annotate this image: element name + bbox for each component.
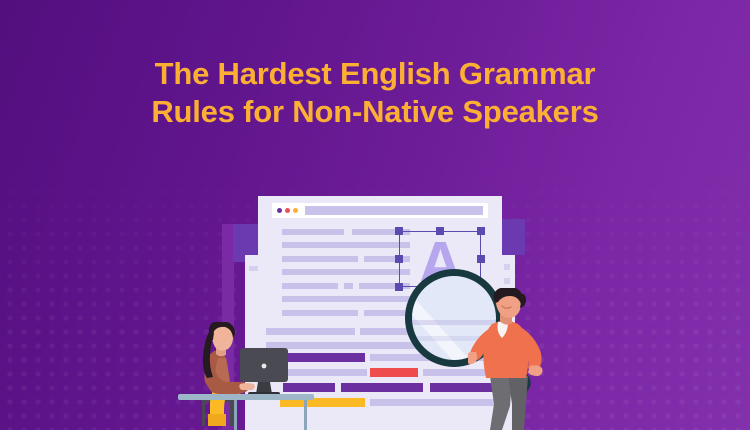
address-bar: [305, 206, 483, 215]
selection-handle-tc[interactable]: [436, 227, 444, 235]
banner-canvas: A: [0, 0, 750, 430]
title-line-1: The Hardest English Grammar: [40, 55, 710, 93]
browser-toolbar: [272, 203, 488, 218]
window-dot-purple-icon: [277, 208, 282, 213]
text-line: [364, 310, 410, 316]
side-tick-right-2: [504, 278, 510, 284]
text-line: [282, 283, 338, 289]
highlight-bar-purple-3: [341, 383, 423, 392]
text-line: [282, 310, 358, 316]
page-title: The Hardest English Grammar Rules for No…: [0, 55, 750, 131]
window-dot-yellow-icon: [293, 208, 298, 213]
text-line: [282, 296, 410, 302]
text-line: [282, 242, 410, 248]
text-line: [282, 269, 410, 275]
selection-handle-ml[interactable]: [395, 255, 403, 263]
text-line: [282, 256, 358, 262]
title-line-2: Rules for Non-Native Speakers: [40, 93, 710, 131]
selection-handle-tr[interactable]: [477, 227, 485, 235]
highlight-bar-red: [370, 368, 418, 377]
selection-handle-mr[interactable]: [477, 255, 485, 263]
text-line: [282, 229, 344, 235]
accent-square-right: [499, 219, 525, 255]
selection-handle-bl[interactable]: [395, 283, 403, 291]
side-tick-right-1: [504, 264, 510, 270]
side-tick-left: [249, 266, 258, 271]
text-line: [344, 283, 353, 289]
seated-woman-at-desk: [178, 322, 314, 430]
selection-handle-tl[interactable]: [395, 227, 403, 235]
standing-man-with-magnifier: [468, 288, 560, 430]
window-dot-red-icon: [285, 208, 290, 213]
